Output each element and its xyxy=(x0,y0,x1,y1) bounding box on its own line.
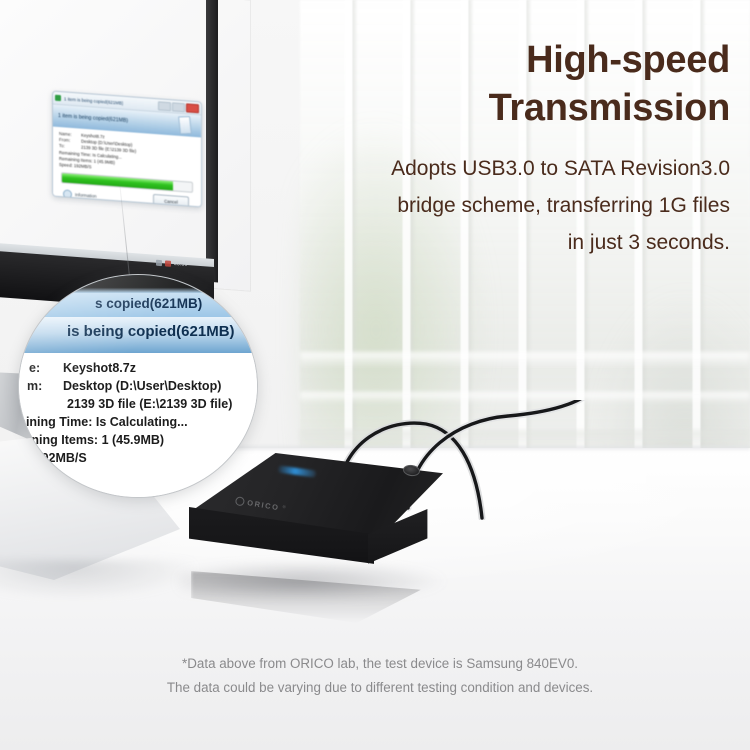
magnifier-heading-text: is being copied(621MB) xyxy=(67,323,235,340)
headline-line-2: Transmission xyxy=(300,84,730,132)
taskbar-alert-icon[interactable] xyxy=(165,260,171,266)
dialog-app-icon xyxy=(55,95,61,101)
page-title: High-speed Transmission xyxy=(300,36,730,132)
subheadline: Adopts USB3.0 to SATA Revision3.0 bridge… xyxy=(280,150,730,261)
orico-trademark-symbol: ® xyxy=(282,504,286,509)
magnifier-row-name-label: e: xyxy=(29,361,63,375)
dialog-title-text: 1 item is being copied(621MB) xyxy=(64,96,123,105)
footnote-line-2: The data could be varying due to differe… xyxy=(60,676,700,700)
subcopy-line-1: Adopts USB3.0 to SATA Revision3.0 xyxy=(280,150,730,187)
product-banner: 20:51 1 item is being copied(621MB) 1 it… xyxy=(0,0,750,750)
dialog-heading: 1 item is being copied(621MB) xyxy=(58,113,128,124)
window-controls[interactable] xyxy=(158,101,199,113)
headline-line-1: High-speed xyxy=(300,36,730,84)
orico-hdd-enclosure: ORICO ® xyxy=(175,445,465,610)
taskbar-clock[interactable]: 20:51 xyxy=(174,261,188,268)
maximize-button[interactable] xyxy=(172,102,185,112)
magnifier-row-name-value: Keyshot8.7z xyxy=(63,361,136,375)
blind-horizontal-band xyxy=(300,352,750,368)
disclaimer: *Data above from ORICO lab, the test dev… xyxy=(60,652,700,700)
magnifier-row-to-value: 2139 3D file (E:\2139 3D file) xyxy=(67,397,232,411)
monitor-stand-shadow xyxy=(0,560,200,600)
close-button[interactable] xyxy=(186,103,199,113)
minimize-button[interactable] xyxy=(158,101,171,111)
magnifier-bezel-strip xyxy=(19,275,257,293)
magnifier-row-speed: : 192MB/S xyxy=(27,451,87,465)
magnifier-title-text: s copied(621MB) xyxy=(95,296,202,311)
file-transfer-icon xyxy=(178,116,192,134)
orico-logo-mark xyxy=(235,496,245,506)
subcopy-line-3: in just 3 seconds. xyxy=(280,224,730,261)
monitor-right-edge xyxy=(206,0,218,282)
magnifier-row-from-value: Desktop (D:\User\Desktop) xyxy=(63,379,221,393)
taskbar-network-icon[interactable] xyxy=(156,260,162,266)
dialog-info-link[interactable]: Information xyxy=(75,192,97,199)
magnifier-row-from-label: m: xyxy=(27,379,63,393)
footnote-line-1: *Data above from ORICO lab, the test dev… xyxy=(60,652,700,676)
magnifier-row-name: e:Keyshot8.7z xyxy=(29,361,136,375)
copy-progress-dialog[interactable]: 1 item is being copied(621MB) 1 item is … xyxy=(52,90,202,207)
info-icon xyxy=(63,189,72,199)
dialog-body: Name: Keyshot8.7z From: Desktop (D:\User… xyxy=(53,127,201,208)
magnifier-row-remaining-time: aining Time: Is Calculating... xyxy=(19,415,188,429)
subcopy-line-2: bridge scheme, transferring 1G files xyxy=(280,187,730,224)
magnifier-row-from: m:Desktop (D:\User\Desktop) xyxy=(27,379,221,393)
magnifier-row-remaining-items: aining Items: 1 (45.9MB) xyxy=(21,433,164,447)
